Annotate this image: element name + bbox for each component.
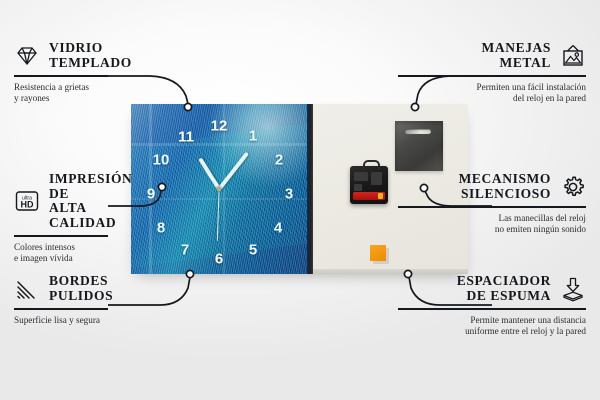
- callout-impresion-alta-calidad[interactable]: ultra HD IMPRESIÓN DE ALTA CALIDAD Color…: [14, 172, 108, 264]
- clock-numeral-12: 12: [211, 119, 228, 134]
- callout-subtitle: Resistencia a grietas y rayones: [14, 82, 108, 105]
- callout-rule: [14, 75, 108, 77]
- callout-rule: [398, 206, 586, 208]
- hanger-slot: [405, 129, 431, 134]
- callout-vidrio-templado[interactable]: VIDRIO TEMPLADO Resistencia a grietas y …: [14, 41, 108, 104]
- clock-numeral-5: 5: [249, 243, 257, 258]
- callout-mecanismo-silencioso[interactable]: MECANISMO SILENCIOSO Las manecillas del …: [398, 172, 586, 235]
- clock-numeral-11: 11: [178, 130, 194, 145]
- callout-title-line1: VIDRIO: [49, 41, 132, 56]
- callout-subtitle: Permite mantener una distancia uniforme …: [398, 315, 586, 338]
- clock-numeral-1: 1: [249, 129, 257, 144]
- clock-center-pin: [217, 187, 222, 192]
- callout-title-line2: ALTA CALIDAD: [49, 201, 132, 230]
- callout-title-line2: TEMPLADO: [49, 56, 132, 71]
- quartz-movement-box: [350, 166, 388, 204]
- diamond-icon: [14, 43, 40, 69]
- callout-bordes-pulidos[interactable]: BORDES PULIDOS Superficie lisa y segura: [14, 274, 108, 326]
- battery: [353, 192, 385, 200]
- callout-title-line2: DE ESPUMA: [457, 289, 551, 304]
- callout-subtitle: Las manecillas del reloj no emiten ningú…: [398, 213, 586, 236]
- clock-numeral-6: 6: [215, 252, 223, 267]
- callout-rule: [14, 308, 108, 310]
- clock-numeral-9: 9: [147, 187, 155, 202]
- callout-title-line1: MANEJAS: [482, 41, 551, 56]
- foam-spacer-pad: [370, 245, 386, 261]
- callout-title-line1: IMPRESIÓN DE: [49, 172, 132, 201]
- metal-hanger-plate: [395, 121, 443, 171]
- infographic-canvas: 12 1 2 3 4 5 6 7 8 9 10 11: [0, 0, 600, 400]
- clock-face-front: 12 1 2 3 4 5 6 7 8 9 10 11: [131, 104, 307, 274]
- callout-subtitle: Permiten una fácil instalación del reloj…: [398, 82, 586, 105]
- clock-numeral-2: 2: [275, 153, 283, 168]
- clock-minute-hand: [218, 152, 249, 190]
- clock-hour-hand: [198, 157, 220, 190]
- movement-hanging-loop: [363, 160, 380, 170]
- clock-numeral-7: 7: [181, 243, 189, 258]
- clock-numeral-8: 8: [157, 221, 165, 236]
- callout-rule: [398, 75, 586, 77]
- callout-title-line2: PULIDOS: [49, 289, 113, 304]
- callout-rule: [14, 235, 108, 237]
- callout-title-line1: BORDES: [49, 274, 113, 289]
- callout-subtitle: Superficie lisa y segura: [14, 315, 108, 326]
- wall-frame-hook-icon: [560, 43, 586, 69]
- clock-numeral-10: 10: [153, 153, 170, 168]
- clock-numeral-3: 3: [285, 187, 293, 202]
- callout-title-line1: ESPACIADOR: [457, 274, 551, 289]
- clock-numeral-4: 4: [274, 221, 282, 236]
- callout-rule: [398, 308, 586, 310]
- clock-second-hand: [217, 189, 220, 241]
- ultra-hd-icon: ultra HD: [14, 188, 40, 214]
- callout-manejas-metal[interactable]: MANEJAS METAL Permiten una fácil instala…: [398, 41, 586, 104]
- callout-espaciador-de-espuma[interactable]: ESPACIADOR DE ESPUMA Permite mantener un…: [398, 274, 586, 337]
- gear-icon: [560, 174, 586, 200]
- callout-subtitle: Colores intensos e imagen vívida: [14, 242, 108, 265]
- svg-text:HD: HD: [21, 199, 34, 209]
- callout-title-line2: METAL: [482, 56, 551, 71]
- foam-spacer-icon: [560, 276, 586, 302]
- callout-title-line1: MECANISMO: [459, 172, 551, 187]
- callout-title-line2: SILENCIOSO: [459, 187, 551, 202]
- beveled-edges-icon: [14, 276, 40, 302]
